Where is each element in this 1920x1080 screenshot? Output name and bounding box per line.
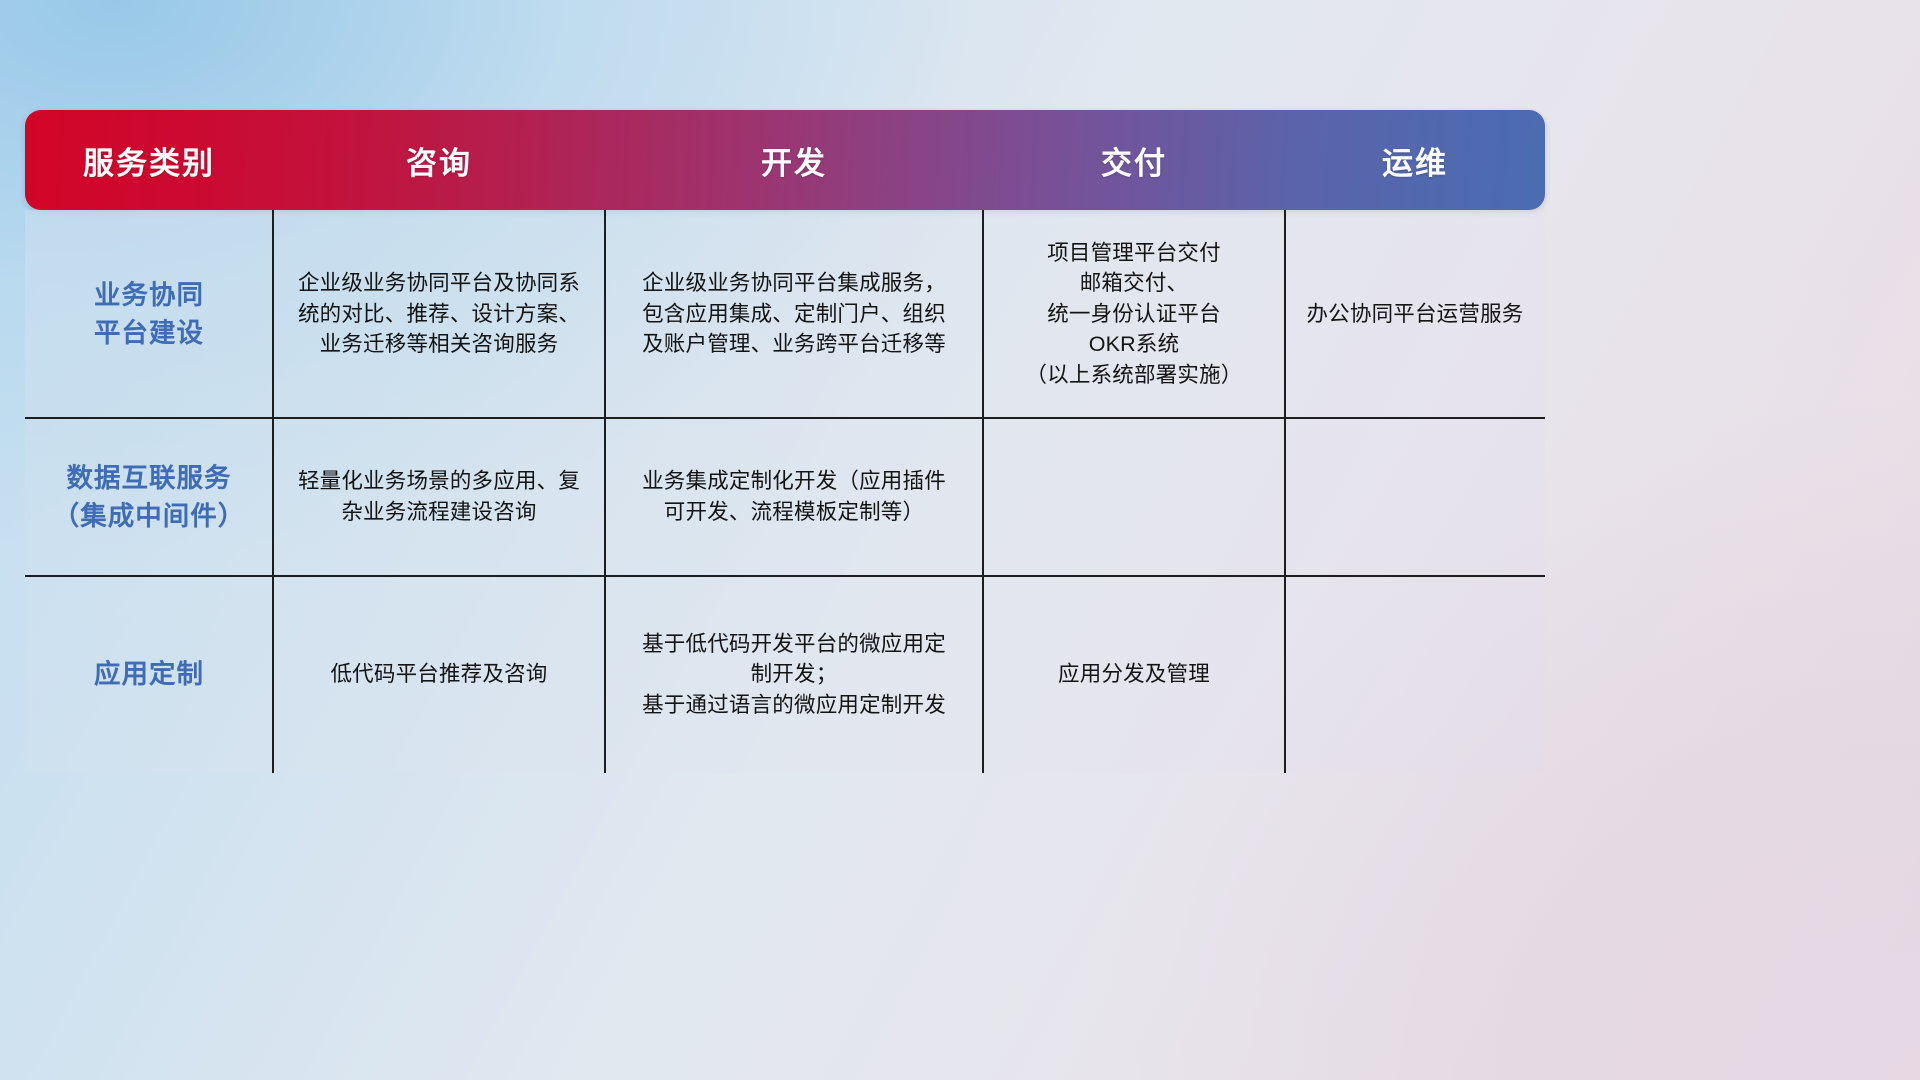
table-body-content: 业务协同 平台建设 企业级业务协同平台及协同系 统的对比、推荐、设计方案、 业务… (25, 210, 1545, 773)
cell-consulting: 企业级业务协同平台及协同系 统的对比、推荐、设计方案、 业务迁移等相关咨询服务 (273, 210, 605, 418)
cell-text: 轻量化业务场景的多应用、复 杂业务流程建设咨询 (298, 466, 580, 527)
cell-development: 基于低代码开发平台的微应用定 制开发； 基于通过语言的微应用定制开发 (605, 576, 983, 773)
table-row: 应用定制 低代码平台推荐及咨询 基于低代码开发平台的微应用定 制开发； 基于通过… (25, 576, 1545, 773)
service-matrix-table: 服务类别 咨询 开发 交付 运维 业务协同 平台建设 (25, 110, 1545, 773)
cell-text: 应用分发及管理 (1058, 659, 1210, 690)
cell-operations (1285, 576, 1545, 773)
cell-text: 低代码平台推荐及咨询 (330, 659, 547, 690)
row-divider (25, 575, 1545, 577)
column-header-label: 咨询 (406, 138, 472, 183)
column-header-service-category: 服务类别 (25, 110, 273, 210)
cell-service-category: 业务协同 平台建设 (25, 210, 273, 418)
cell-operations (1285, 418, 1545, 576)
cell-text: 办公协同平台运营服务 (1306, 299, 1523, 330)
table-header-row: 服务类别 咨询 开发 交付 运维 (25, 110, 1545, 210)
column-divider (982, 210, 984, 773)
cell-development: 业务集成定制化开发（应用插件 可开发、流程模板定制等） (605, 418, 983, 576)
column-divider (604, 210, 606, 773)
category-label: 应用定制 (94, 655, 204, 693)
column-header-label: 服务类别 (83, 138, 215, 183)
column-divider (272, 210, 274, 773)
cell-service-category: 数据互联服务 （集成中间件） (25, 418, 273, 576)
table-body: 业务协同 平台建设 企业级业务协同平台及协同系 统的对比、推荐、设计方案、 业务… (25, 210, 1545, 773)
column-header-delivery: 交付 (983, 110, 1285, 210)
cell-delivery: 应用分发及管理 (983, 576, 1285, 773)
column-header-label: 开发 (761, 138, 827, 183)
column-header-operations: 运维 (1285, 110, 1545, 210)
cell-text: 业务集成定制化开发（应用插件 可开发、流程模板定制等） (642, 466, 946, 527)
cell-service-category: 应用定制 (25, 576, 273, 773)
table-row: 业务协同 平台建设 企业级业务协同平台及协同系 统的对比、推荐、设计方案、 业务… (25, 210, 1545, 418)
category-label: 业务协同 平台建设 (94, 276, 204, 353)
cell-text: 基于低代码开发平台的微应用定 制开发； 基于通过语言的微应用定制开发 (642, 629, 946, 721)
column-header-development: 开发 (605, 110, 983, 210)
cell-consulting: 低代码平台推荐及咨询 (273, 576, 605, 773)
cell-development: 企业级业务协同平台集成服务， 包含应用集成、定制门户、组织 及账户管理、业务跨平… (605, 210, 983, 418)
cell-delivery (983, 418, 1285, 576)
table-row: 数据互联服务 （集成中间件） 轻量化业务场景的多应用、复 杂业务流程建设咨询 业… (25, 418, 1545, 576)
row-divider (25, 417, 1545, 419)
category-label: 数据互联服务 （集成中间件） (53, 459, 246, 536)
cell-operations: 办公协同平台运营服务 (1285, 210, 1545, 418)
cell-text: 项目管理平台交付 邮箱交付、 统一身份认证平台 OKR系统 （以上系统部署实施） (1025, 238, 1242, 391)
column-divider (1284, 210, 1286, 773)
cell-text: 企业级业务协同平台及协同系 统的对比、推荐、设计方案、 业务迁移等相关咨询服务 (298, 268, 580, 360)
slide-canvas: 服务类别 咨询 开发 交付 运维 业务协同 平台建设 (0, 0, 1920, 1080)
column-header-label: 运维 (1382, 138, 1448, 183)
cell-text: 企业级业务协同平台集成服务， 包含应用集成、定制门户、组织 及账户管理、业务跨平… (642, 268, 946, 360)
cell-delivery: 项目管理平台交付 邮箱交付、 统一身份认证平台 OKR系统 （以上系统部署实施） (983, 210, 1285, 418)
column-header-label: 交付 (1101, 138, 1167, 183)
column-header-consulting: 咨询 (273, 110, 605, 210)
cell-consulting: 轻量化业务场景的多应用、复 杂业务流程建设咨询 (273, 418, 605, 576)
